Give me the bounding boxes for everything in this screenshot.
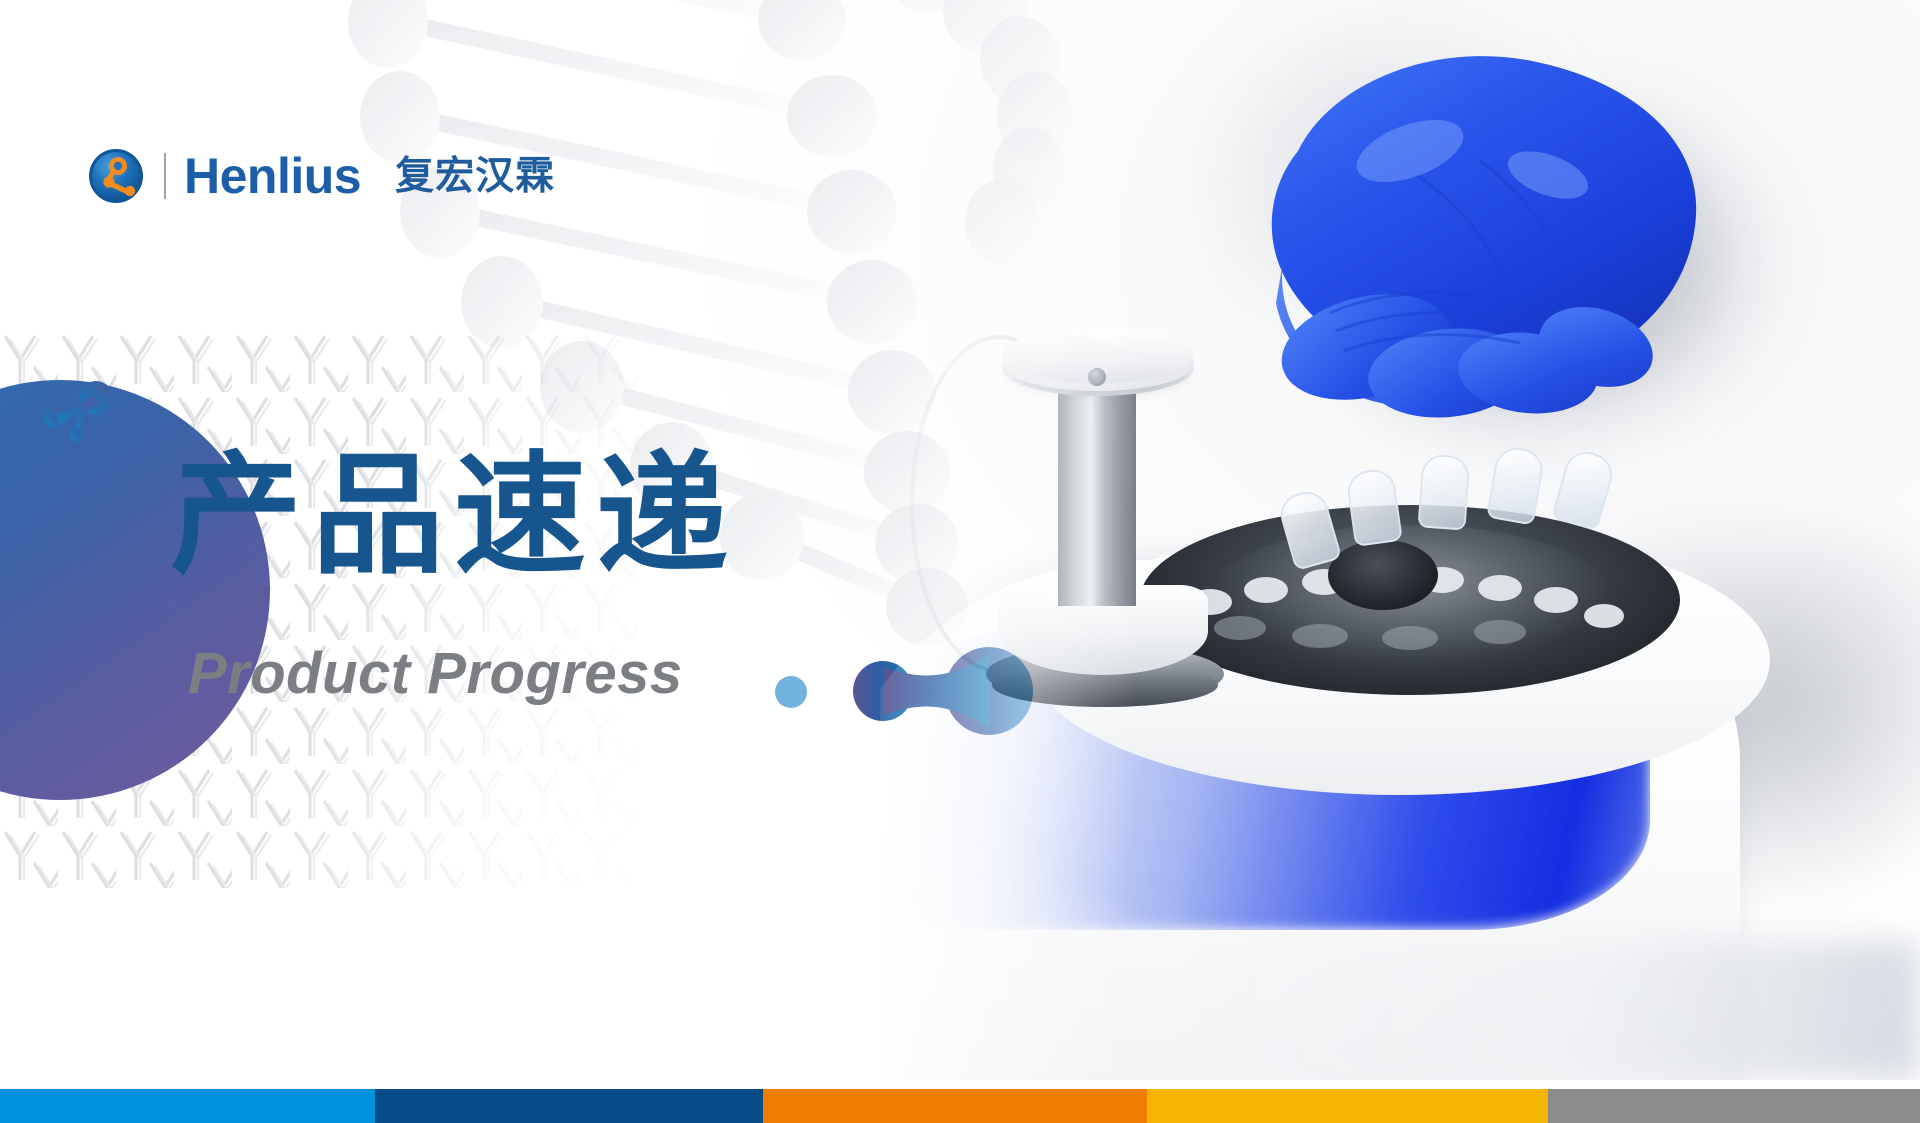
segment-light-blue xyxy=(0,1089,375,1123)
slide-root: Henlius 复宏汉霖 产品速递 Product Progress xyxy=(0,0,1920,1123)
segment-yellow xyxy=(1147,1089,1548,1123)
page-title-chinese: 产品速递 xyxy=(170,450,738,582)
molecule-icon-small xyxy=(26,378,136,458)
photo-bottom-fade xyxy=(1180,940,1920,1080)
rotor-tool-screw xyxy=(1088,368,1106,386)
logo-chinese-name: 复宏汉霖 xyxy=(395,157,555,196)
page-subtitle-english: Product Progress xyxy=(188,645,683,703)
segment-dark-blue xyxy=(375,1089,763,1123)
accent-dot xyxy=(775,676,807,708)
bottom-brand-color-bar xyxy=(0,1089,1920,1123)
brand-logo[interactable]: Henlius 复宏汉霖 xyxy=(88,148,555,204)
logo-wordmark: Henlius xyxy=(184,151,361,201)
gloved-hand xyxy=(1180,55,1700,475)
segment-grey xyxy=(1548,1089,1920,1123)
centrifuge-rotor-hub xyxy=(1328,540,1438,610)
logo-divider xyxy=(164,153,166,199)
laboratory-centrifuge-photo xyxy=(880,0,1920,1080)
microtube-1 xyxy=(1345,467,1403,547)
rotor-tool-column xyxy=(1058,388,1136,606)
henlius-circle-molecule-logo-icon xyxy=(88,148,144,204)
segment-orange xyxy=(763,1089,1147,1123)
